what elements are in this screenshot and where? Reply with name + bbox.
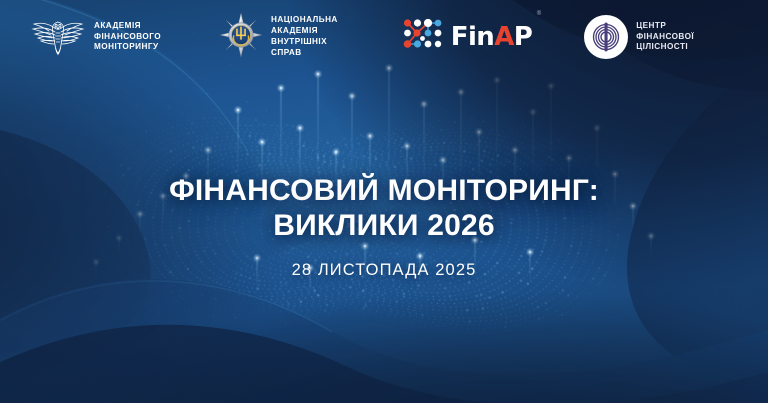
logo-afm-line-3: МОНІТОРИНГУ <box>94 42 161 53</box>
logo-cfi-label: ЦЕНТР ФІНАНСОВОЇ ЦІЛІСНОСТІ <box>636 21 694 53</box>
police-star-badge-icon <box>219 12 263 63</box>
owl-eagle-wings-icon <box>30 15 86 60</box>
logo-naia-line-4: СПРАВ <box>271 48 338 59</box>
logo-afm-line-2: ФІНАНСОВОГО <box>94 32 161 43</box>
finap-fin-text: Fin <box>451 22 494 52</box>
event-title: ФІНАНСОВИЙ МОНІТОРИНГ: ВИКЛИКИ 2026 <box>0 174 768 244</box>
logo-naia-line-2: АКАДЕМІЯ <box>271 26 338 37</box>
logo-naia-label: НАЦІОНАЛЬНА АКАДЕМІЯ ВНУТРІШНІХ СПРАВ <box>271 15 338 58</box>
logo-afm-line-1: АКАДЕМІЯ <box>94 21 161 32</box>
event-title-line-2: ВИКЛИКИ 2026 <box>0 209 768 244</box>
finap-a-text: A <box>494 22 514 52</box>
event-banner: АКАДЕМІЯ ФІНАНСОВОГО МОНІТОРИНГУ <box>0 0 768 403</box>
logo-national-academy-of-internal-affairs: НАЦІОНАЛЬНА АКАДЕМІЯ ВНУТРІШНІХ СПРАВ <box>219 12 338 63</box>
logo-finap-wordmark: FinAP <box>451 24 532 50</box>
concentric-circle-phi-icon <box>584 15 628 59</box>
headline-block: ФІНАНСОВИЙ МОНІТОРИНГ: ВИКЛИКИ 2026 28 Л… <box>0 174 768 280</box>
partner-logo-bar: АКАДЕМІЯ ФІНАНСОВОГО МОНІТОРИНГУ <box>0 0 768 74</box>
logo-finap: FinAP ® <box>400 13 532 62</box>
logo-cfi-line-2: ФІНАНСОВОЇ <box>636 32 694 43</box>
registered-trademark-icon: ® <box>537 11 541 17</box>
logo-naia-line-3: ВНУТРІШНІХ <box>271 37 338 48</box>
network-nodes-icon <box>400 13 444 62</box>
event-title-line-1: ФІНАНСОВИЙ МОНІТОРИНГ: <box>169 174 599 207</box>
logo-center-of-financial-integrity: ЦЕНТР ФІНАНСОВОЇ ЦІЛІСНОСТІ <box>584 15 694 59</box>
logo-cfi-line-1: ЦЕНТР <box>636 21 694 32</box>
logo-academy-of-financial-monitoring: АКАДЕМІЯ ФІНАНСОВОГО МОНІТОРИНГУ <box>30 15 161 60</box>
logo-academy-of-financial-monitoring-label: АКАДЕМІЯ ФІНАНСОВОГО МОНІТОРИНГУ <box>94 21 161 53</box>
logo-naia-line-1: НАЦІОНАЛЬНА <box>271 15 338 26</box>
finap-p-text: P <box>514 22 532 52</box>
logo-cfi-line-3: ЦІЛІСНОСТІ <box>636 42 694 53</box>
event-date: 28 ЛИСТОПАДА 2025 <box>0 261 768 280</box>
